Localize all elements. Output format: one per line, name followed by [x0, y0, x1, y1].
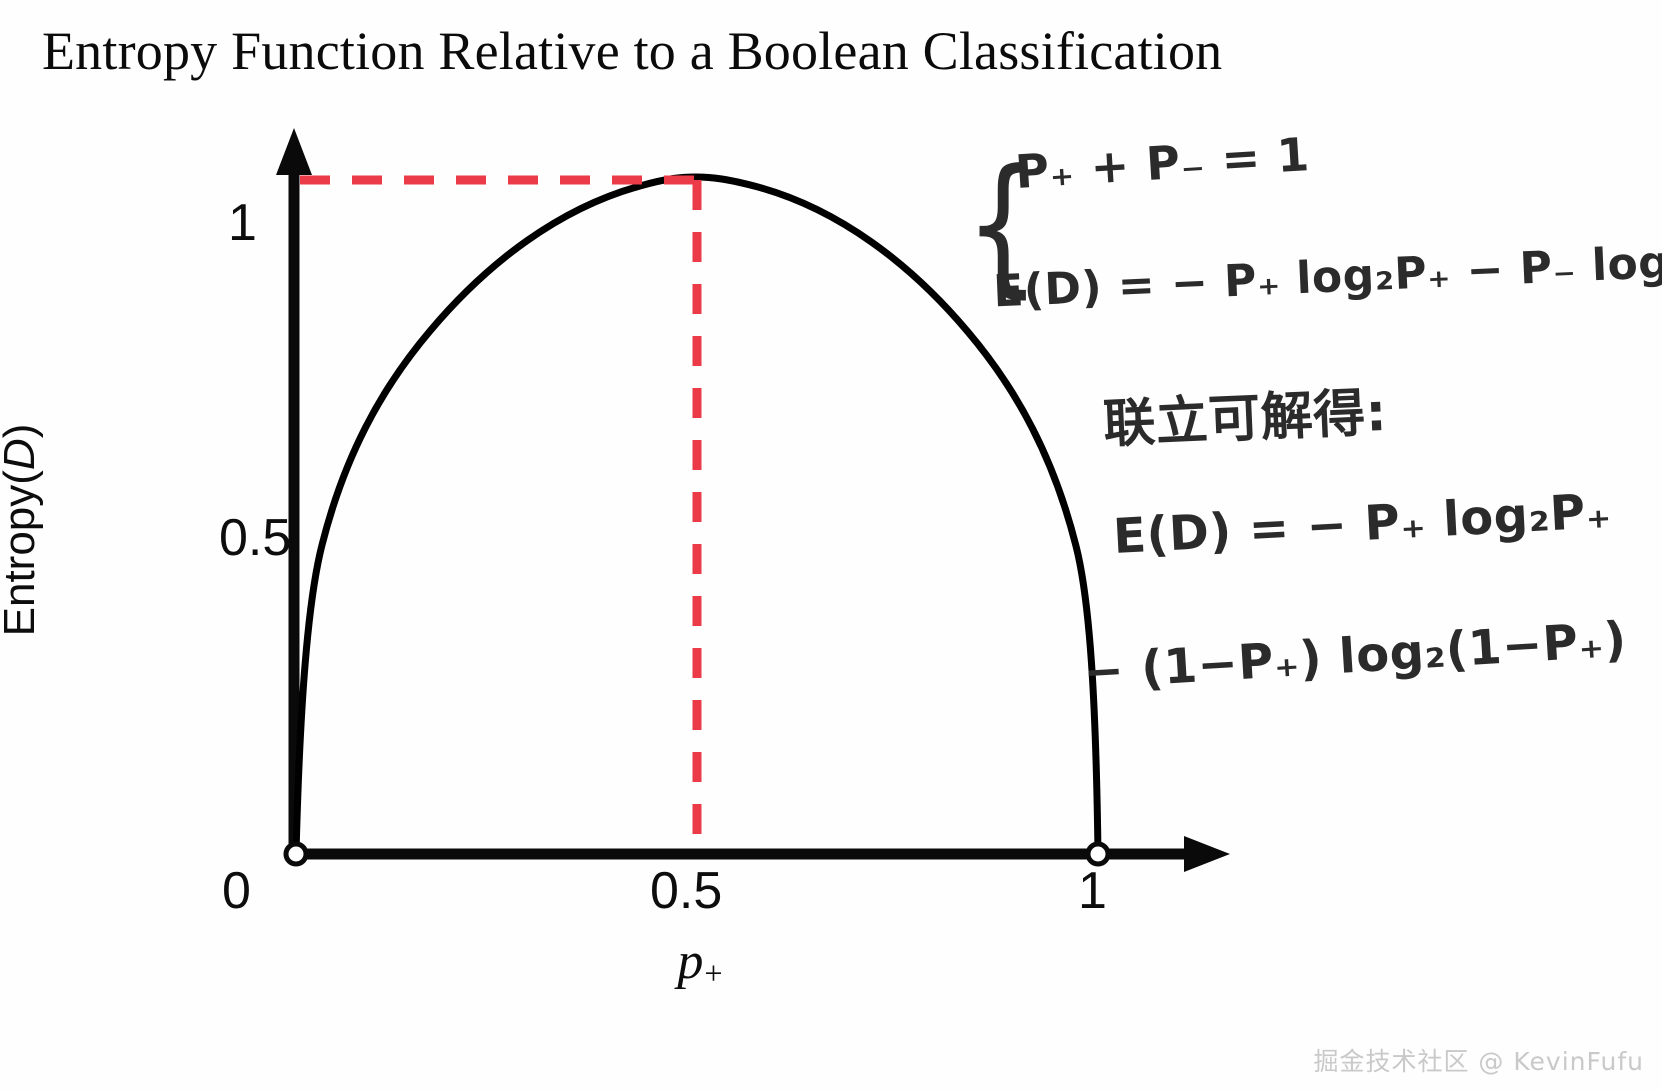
handwriting-line-1: P₊ + P₋ = 1 — [1014, 127, 1311, 199]
y-axis-title-prefix: Entropy( — [0, 470, 44, 636]
handwriting-line-3-chinese: 联立可解得: — [1101, 370, 1388, 457]
handwriting-line-2: E(D) = − P₊ log₂P₊ − P₋ log₂P₋ — [992, 234, 1662, 318]
y-axis-title-variable: D — [0, 438, 44, 470]
handwriting-line-5: − (1−P₊) log₂(1−P₊) — [1082, 611, 1628, 700]
watermark: 掘金技术社区 @ KevinFufu — [1313, 1042, 1644, 1078]
y-tick-label-1: 1 — [228, 197, 257, 249]
x-tick-label-1: 1 — [1078, 865, 1107, 917]
y-tick-label-05: 0.5 — [219, 512, 291, 564]
x-axis-title: p+ — [600, 932, 800, 992]
x-axis-title-subscript: + — [703, 955, 722, 991]
y-axis-title: Entropy(D) — [0, 370, 45, 690]
x-axis-title-base: p — [677, 933, 703, 990]
handwritten-annotations: { P₊ + P₋ = 1 E(D) = − P₊ log₂P₊ − P₋ lo… — [955, 128, 1662, 828]
slide-canvas: Entropy Function Relative to a Boolean C… — [0, 0, 1662, 1090]
x-tick-label-05: 0.5 — [650, 865, 722, 917]
x-tick-label-0: 0 — [222, 865, 251, 917]
handwriting-line-4: E(D) = − P₊ log₂P₊ — [1112, 483, 1613, 565]
endpoint-marker-right — [1088, 844, 1108, 864]
endpoint-marker-left — [286, 844, 306, 864]
y-axis-title-suffix: ) — [0, 424, 44, 439]
y-axis — [276, 128, 312, 854]
